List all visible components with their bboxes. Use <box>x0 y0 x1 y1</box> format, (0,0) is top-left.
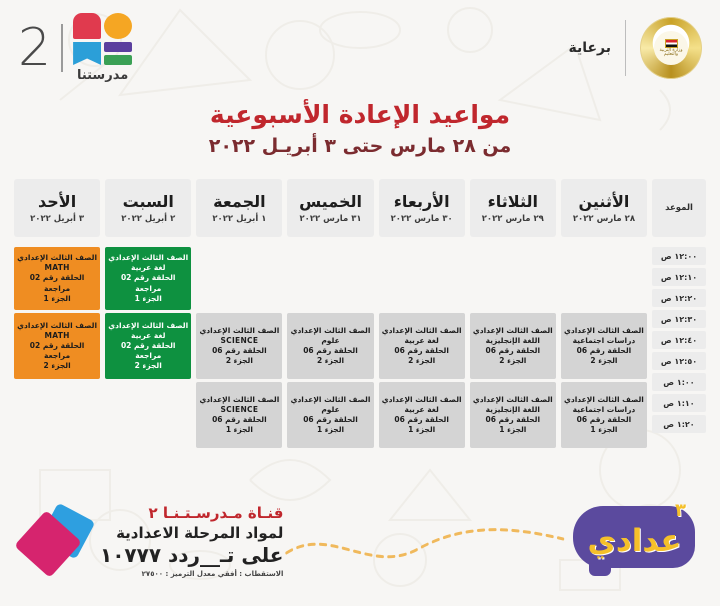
slot-part: الجزء 2 <box>44 361 71 371</box>
schedule-slot-empty <box>196 247 282 310</box>
day-name: السبت <box>123 192 174 211</box>
day-column-friday: الصف الثالث الإعدادي SCIENCE الحلقة رقم … <box>196 247 282 448</box>
schedule-slot[interactable]: الصف الثالث الإعدادي MATH الحلقة رقم 02 … <box>14 247 100 310</box>
day-name: الأربعاء <box>394 192 450 211</box>
page-header: وزارة التربية والتعليم برعاية مدرستنا 2 <box>0 0 720 96</box>
slot-episode: الحلقة رقم 02 مراجعة <box>107 341 189 361</box>
technical-line: الاستقطاب : أفقي معدل الترميز : ٢٧٥٠٠ <box>100 570 283 578</box>
header-day-monday: الأثنين ٢٨ مارس ٢٠٢٢ <box>561 179 647 237</box>
slot-part: الجزء 1 <box>499 425 526 435</box>
time-cell: ١٢:٤٠ ص <box>652 331 706 349</box>
channel-logo: مدرستنا 2 <box>18 13 132 83</box>
sponsor-block: وزارة التربية والتعليم برعاية <box>568 17 702 79</box>
slot-grade: الصف الثالث الإعدادي <box>17 321 97 331</box>
grade-badge-logo: عدادي ٣ <box>567 502 702 580</box>
schedule-slot[interactable]: الصف الثالث الإعدادي اللغة الإنجليزية ال… <box>470 313 556 379</box>
slot-episode: الحلقة رقم 06 <box>486 346 541 356</box>
day-columns: الصف الثالث الإعدادي دراسات اجتماعية الح… <box>14 247 647 448</box>
slot-part: الجزء 2 <box>317 356 344 366</box>
schedule-slot-empty <box>14 382 100 448</box>
header-day-wednesday: الأربعاء ٣٠ مارس ٢٠٢٢ <box>379 179 465 237</box>
slot-part: الجزء 2 <box>408 356 435 366</box>
slot-subject: لغة عربية <box>131 331 165 341</box>
time-cell: ١٢:٠٠ ص <box>652 247 706 265</box>
schedule-slot[interactable]: الصف الثالث الإعدادي علوم الحلقة رقم 06 … <box>287 313 373 379</box>
slot-grade: الصف الثالث الإعدادي <box>108 321 188 331</box>
header-time-column: الموعد <box>652 179 706 237</box>
channel-name: مدرستنا <box>77 68 128 83</box>
day-name: الأثنين <box>579 192 630 211</box>
time-column: ١٢:٠٠ ص ١٢:١٠ ص ١٢:٢٠ ص ١٢:٣٠ ص ١٢:٤٠ ص … <box>652 247 706 433</box>
channel-line: قنـاة مـدرسـتـنـا ٢ <box>100 504 283 522</box>
slot-episode: الحلقة رقم 06 <box>212 346 267 356</box>
infographic-page: وزارة التربية والتعليم برعاية مدرستنا 2 <box>0 0 720 606</box>
slot-episode: الحلقة رقم 06 <box>486 415 541 425</box>
slot-part: الجزء 1 <box>135 294 162 304</box>
dashed-connector <box>283 501 567 581</box>
schedule-header-row: الموعد الأثنين ٢٨ مارس ٢٠٢٢ الثلاثاء ٢٩ … <box>14 179 706 237</box>
slot-subject: لغة عربية <box>404 336 438 346</box>
kite-icon <box>18 504 92 578</box>
day-column-wednesday: الصف الثالث الإعدادي لغة عربية الحلقة رق… <box>379 247 465 448</box>
time-cell: ١:٢٠ ص <box>652 415 706 433</box>
purple-bar-icon <box>104 42 132 52</box>
time-cell: ١:١٠ ص <box>652 394 706 412</box>
header-day-saturday: السبت ٢ أبريل ٢٠٢٢ <box>105 179 191 237</box>
slot-part: الجزء 2 <box>590 356 617 366</box>
schedule-slot[interactable]: الصف الثالث الإعدادي SCIENCE الحلقة رقم … <box>196 313 282 379</box>
frequency-line: على تـ__ردد ١٠٧٧٧ <box>100 543 283 567</box>
slot-episode: الحلقة رقم 06 <box>577 346 632 356</box>
header-day-thursday: الخميس ٣١ مارس ٢٠٢٢ <box>287 179 373 237</box>
day-date: ١ أبريل ٢٠٢٢ <box>212 214 266 224</box>
slot-grade: الصف الثالث الإعدادي <box>199 395 279 405</box>
circle-shape-icon <box>104 13 132 39</box>
schedule-slot[interactable]: الصف الثالث الإعدادي لغة عربية الحلقة رق… <box>105 247 191 310</box>
slot-part: الجزء 2 <box>135 361 162 371</box>
house-shape-icon <box>73 13 101 39</box>
slot-grade: الصف الثالث الإعدادي <box>199 326 279 336</box>
slot-part: الجزء 1 <box>408 425 435 435</box>
time-cell: ١٢:٢٠ ص <box>652 289 706 307</box>
day-date: ٣٠ مارس ٢٠٢٢ <box>391 214 453 224</box>
schedule-slot-empty <box>105 382 191 448</box>
slot-grade: الصف الثالث الإعدادي <box>564 395 644 405</box>
schedule-slot[interactable]: الصف الثالث الإعدادي لغة عربية الحلقة رق… <box>105 313 191 379</box>
slot-episode: الحلقة رقم 06 <box>212 415 267 425</box>
slot-subject: لغة عربية <box>131 263 165 273</box>
slot-part: الجزء 2 <box>499 356 526 366</box>
slot-episode: الحلقة رقم 02 مراجعة <box>107 273 189 293</box>
day-column-saturday: الصف الثالث الإعدادي لغة عربية الحلقة رق… <box>105 247 191 448</box>
schedule-slot[interactable]: الصف الثالث الإعدادي اللغة الإنجليزية ال… <box>470 382 556 448</box>
slot-grade: الصف الثالث الإعدادي <box>473 395 553 405</box>
day-date: ٣١ مارس ٢٠٢٢ <box>299 214 361 224</box>
slot-subject: دراسات اجتماعية <box>573 405 636 415</box>
slot-subject: اللغة الإنجليزية <box>486 336 540 346</box>
schedule-table: الموعد الأثنين ٢٨ مارس ٢٠٢٢ الثلاثاء ٢٩ … <box>14 179 706 448</box>
slot-part: الجزء 1 <box>317 425 344 435</box>
time-cell: ١٢:٥٠ ص <box>652 352 706 370</box>
slot-episode: الحلقة رقم 06 <box>394 415 449 425</box>
header-day-sunday: الأحد ٣ أبريل ٢٠٢٢ <box>14 179 100 237</box>
day-column-sunday: الصف الثالث الإعدادي MATH الحلقة رقم 02 … <box>14 247 100 448</box>
schedule-slot-empty <box>470 247 556 310</box>
green-bar-icon <box>104 55 132 65</box>
day-name: الأحد <box>38 192 76 211</box>
page-subtitle: من ٢٨ مارس حتى ٣ أبريـل ٢٠٢٢ <box>0 135 720 157</box>
madrasatna-mark-icon: مدرستنا <box>73 13 132 83</box>
page-title: مواعيد الإعادة الأسبوعية <box>0 100 720 129</box>
slot-subject: SCIENCE <box>220 405 258 415</box>
time-cell: ١:٠٠ ص <box>652 373 706 391</box>
schedule-body: ١٢:٠٠ ص ١٢:١٠ ص ١٢:٢٠ ص ١٢:٣٠ ص ١٢:٤٠ ص … <box>14 247 706 448</box>
day-column-monday: الصف الثالث الإعدادي دراسات اجتماعية الح… <box>561 247 647 448</box>
slot-part: الجزء 1 <box>590 425 617 435</box>
slot-part: الجزء 1 <box>44 294 71 304</box>
stage-line: لمواد المرحلة الاعدادية <box>100 524 283 542</box>
day-column-tuesday: الصف الثالث الإعدادي اللغة الإنجليزية ال… <box>470 247 556 448</box>
schedule-slot[interactable]: الصف الثالث الإعدادي لغة عربية الحلقة رق… <box>379 382 465 448</box>
schedule-slot-empty <box>287 247 373 310</box>
frequency-block: قنـاة مـدرسـتـنـا ٢ لمواد المرحلة الاعدا… <box>18 504 283 578</box>
time-cell: ١٢:٣٠ ص <box>652 310 706 328</box>
slot-subject: لغة عربية <box>404 405 438 415</box>
emblem-caption: وزارة التربية والتعليم <box>654 49 688 58</box>
header-day-tuesday: الثلاثاء ٢٩ مارس ٢٠٢٢ <box>470 179 556 237</box>
slot-subject: MATH <box>44 331 69 341</box>
schedule-slot-empty <box>561 247 647 310</box>
sponsor-label: برعاية <box>568 40 611 56</box>
divider <box>625 20 626 76</box>
schedule-slot[interactable]: الصف الثالث الإعدادي SCIENCE الحلقة رقم … <box>196 382 282 448</box>
day-name: الجمعة <box>213 192 265 211</box>
slot-episode: الحلقة رقم 02 مراجعة <box>16 273 98 293</box>
slot-subject: علوم <box>321 336 339 346</box>
schedule-slot[interactable]: الصف الثالث الإعدادي دراسات اجتماعية الح… <box>561 382 647 448</box>
slot-episode: الحلقة رقم 06 <box>577 415 632 425</box>
slot-subject: علوم <box>321 405 339 415</box>
day-date: ٢٩ مارس ٢٠٢٢ <box>482 214 544 224</box>
schedule-slot-empty <box>379 247 465 310</box>
slot-subject: SCIENCE <box>220 336 258 346</box>
day-name: الثلاثاء <box>488 192 538 211</box>
slot-episode: الحلقة رقم 06 <box>394 346 449 356</box>
slot-grade: الصف الثالث الإعدادي <box>291 326 371 336</box>
slot-grade: الصف الثالث الإعدادي <box>473 326 553 336</box>
slot-part: الجزء 1 <box>226 425 253 435</box>
schedule-slot[interactable]: الصف الثالث الإعدادي MATH الحلقة رقم 02 … <box>14 313 100 379</box>
slot-grade: الصف الثالث الإعدادي <box>564 326 644 336</box>
day-date: ٣ أبريل ٢٠٢٢ <box>30 214 84 224</box>
slot-part: الجزء 2 <box>226 356 253 366</box>
frequency-text: قنـاة مـدرسـتـنـا ٢ لمواد المرحلة الاعدا… <box>100 504 283 578</box>
divider <box>61 24 63 72</box>
schedule-slot[interactable]: الصف الثالث الإعدادي علوم الحلقة رقم 06 … <box>287 382 373 448</box>
slot-grade: الصف الثالث الإعدادي <box>382 395 462 405</box>
day-date: ٢ أبريل ٢٠٢٢ <box>121 214 175 224</box>
day-date: ٢٨ مارس ٢٠٢٢ <box>573 214 635 224</box>
bookmark-shape-icon <box>73 42 101 65</box>
slot-grade: الصف الثالث الإعدادي <box>382 326 462 336</box>
slot-subject: MATH <box>44 263 69 273</box>
slot-episode: الحلقة رقم 06 <box>303 415 358 425</box>
slot-grade: الصف الثالث الإعدادي <box>291 395 371 405</box>
egypt-ministry-emblem-icon: وزارة التربية والتعليم <box>640 17 702 79</box>
slot-episode: الحلقة رقم 02 مراجعة <box>16 341 98 361</box>
grade-number: ٣ <box>675 500 686 521</box>
slot-grade: الصف الثالث الإعدادي <box>17 253 97 263</box>
title-block: مواعيد الإعادة الأسبوعية من ٢٨ مارس حتى … <box>0 100 720 157</box>
schedule-slot[interactable]: الصف الثالث الإعدادي دراسات اجتماعية الح… <box>561 313 647 379</box>
slot-episode: الحلقة رقم 06 <box>303 346 358 356</box>
channel-number: 2 <box>18 22 51 74</box>
day-column-thursday: الصف الثالث الإعدادي علوم الحلقة رقم 06 … <box>287 247 373 448</box>
time-cell: ١٢:١٠ ص <box>652 268 706 286</box>
header-day-friday: الجمعة ١ أبريل ٢٠٢٢ <box>196 179 282 237</box>
slot-grade: الصف الثالث الإعدادي <box>108 253 188 263</box>
slot-subject: دراسات اجتماعية <box>573 336 636 346</box>
page-footer: عدادي ٣ قنـاة مـدرسـتـنـا ٢ لمواد المرحل… <box>0 486 720 606</box>
slot-subject: اللغة الإنجليزية <box>486 405 540 415</box>
day-name: الخميس <box>299 192 362 211</box>
schedule-slot[interactable]: الصف الثالث الإعدادي لغة عربية الحلقة رق… <box>379 313 465 379</box>
